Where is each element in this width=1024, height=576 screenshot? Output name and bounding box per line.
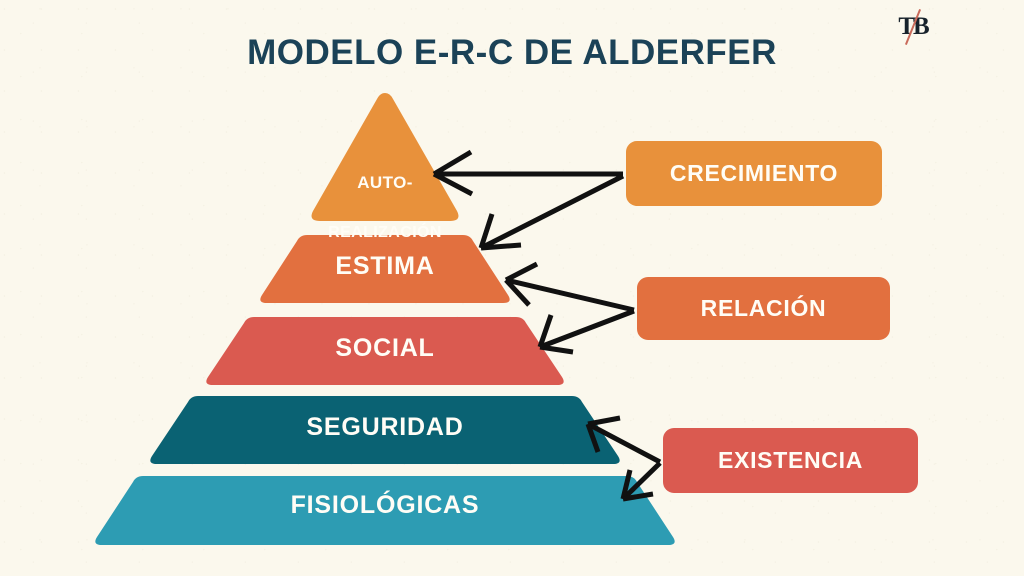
arrow-growth-to-esteem (481, 176, 623, 248)
arrow-relatedness-to-esteem (506, 264, 634, 310)
arrow-existence-to-physiological (623, 463, 660, 499)
pyramid-tier-physiological[interactable] (95, 476, 674, 545)
category-box-relatedness[interactable]: RELACIÓN (637, 277, 890, 340)
pyramid-tier-safety[interactable] (150, 396, 619, 464)
category-box-growth[interactable]: CRECIMIENTO (626, 141, 882, 206)
diagram-canvas: MODELO E-R-C DE ALDERFER TB (0, 0, 1024, 576)
pyramid-tier-self-actualization[interactable] (312, 93, 459, 221)
category-box-existence[interactable]: EXISTENCIA (663, 428, 918, 493)
pyramid-tier-social[interactable] (206, 317, 563, 385)
pyramid-tier-esteem[interactable] (260, 235, 509, 303)
arrow-relatedness-to-social (540, 311, 634, 352)
